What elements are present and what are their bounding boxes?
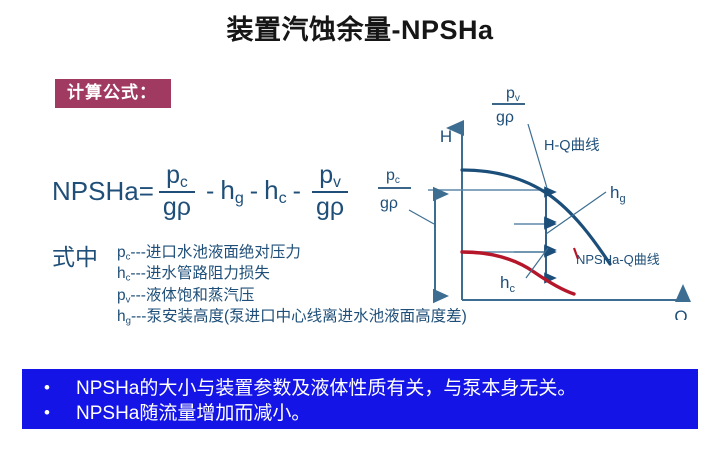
- list-item: • NPSHa随流量增加而减小。: [22, 401, 698, 426]
- npsha-q-curve: [462, 252, 574, 294]
- formula-term4-numerator: pv: [315, 163, 345, 191]
- npsha-pump-curve-chart: H Q pv gρ pc gρ hg hc H-Q曲线 NPSHa-Q曲线: [378, 82, 716, 320]
- formula-term-pv-grho: pv gρ: [312, 163, 348, 220]
- formula-term-hc: hc: [264, 175, 287, 208]
- y-axis-label: H: [440, 127, 452, 146]
- bullet-text: NPSHa的大小与装置参数及液体性质有关，与泵本身无关。: [76, 376, 576, 401]
- leader-pc: [409, 210, 434, 224]
- main-formula: NPSHa= pc gρ - hg - hc - pv gρ: [52, 163, 353, 220]
- summary-box: • NPSHa的大小与装置参数及液体性质有关，与泵本身无关。 • NPSHa随流…: [22, 369, 698, 429]
- bullet-text: NPSHa随流量增加而减小。: [76, 401, 310, 426]
- where-label: 式中: [52, 238, 98, 272]
- formula-term1-numerator: pc: [162, 163, 192, 191]
- svg-text:pv: pv: [506, 85, 520, 104]
- formula-lhs: NPSHa=: [52, 176, 154, 207]
- formula-op1: -: [206, 177, 214, 206]
- page-title: 装置汽蚀余量-NPSHa: [0, 8, 720, 47]
- annotation-pv-over-grho: pv gρ: [492, 85, 525, 126]
- svg-text:gρ: gρ: [496, 109, 514, 126]
- formula-term1-denominator: gρ: [159, 191, 195, 220]
- svg-text:gρ: gρ: [380, 195, 398, 212]
- formula-term-pc-grho: pc gρ: [159, 163, 195, 220]
- x-axis-label: Q: [674, 307, 687, 320]
- hq-curve: [462, 170, 610, 264]
- slide-canvas: 装置汽蚀余量-NPSHa 计算公式： NPSHa= pc gρ - hg - h…: [0, 0, 720, 449]
- leader-pv: [528, 124, 547, 188]
- list-item: • NPSHa的大小与装置参数及液体性质有关，与泵本身无关。: [22, 376, 698, 401]
- bullet-icon: •: [44, 376, 76, 401]
- formula-section-chip: 计算公式：: [55, 79, 171, 108]
- annotation-pc-over-grho: pc gρ: [378, 167, 411, 212]
- annotation-hg: hg: [610, 183, 626, 205]
- formula-term-hg: hg: [220, 175, 243, 208]
- hq-curve-label: H-Q曲线: [544, 137, 600, 154]
- bullet-icon: •: [44, 401, 76, 426]
- formula-term4-denominator: gρ: [312, 191, 348, 220]
- npsha-curve-label: NPSHa-Q曲线: [576, 252, 660, 267]
- formula-op3: -: [293, 177, 301, 206]
- svg-text:pc: pc: [386, 167, 400, 186]
- annotation-hc: hc: [500, 273, 515, 295]
- formula-op2: -: [250, 177, 258, 206]
